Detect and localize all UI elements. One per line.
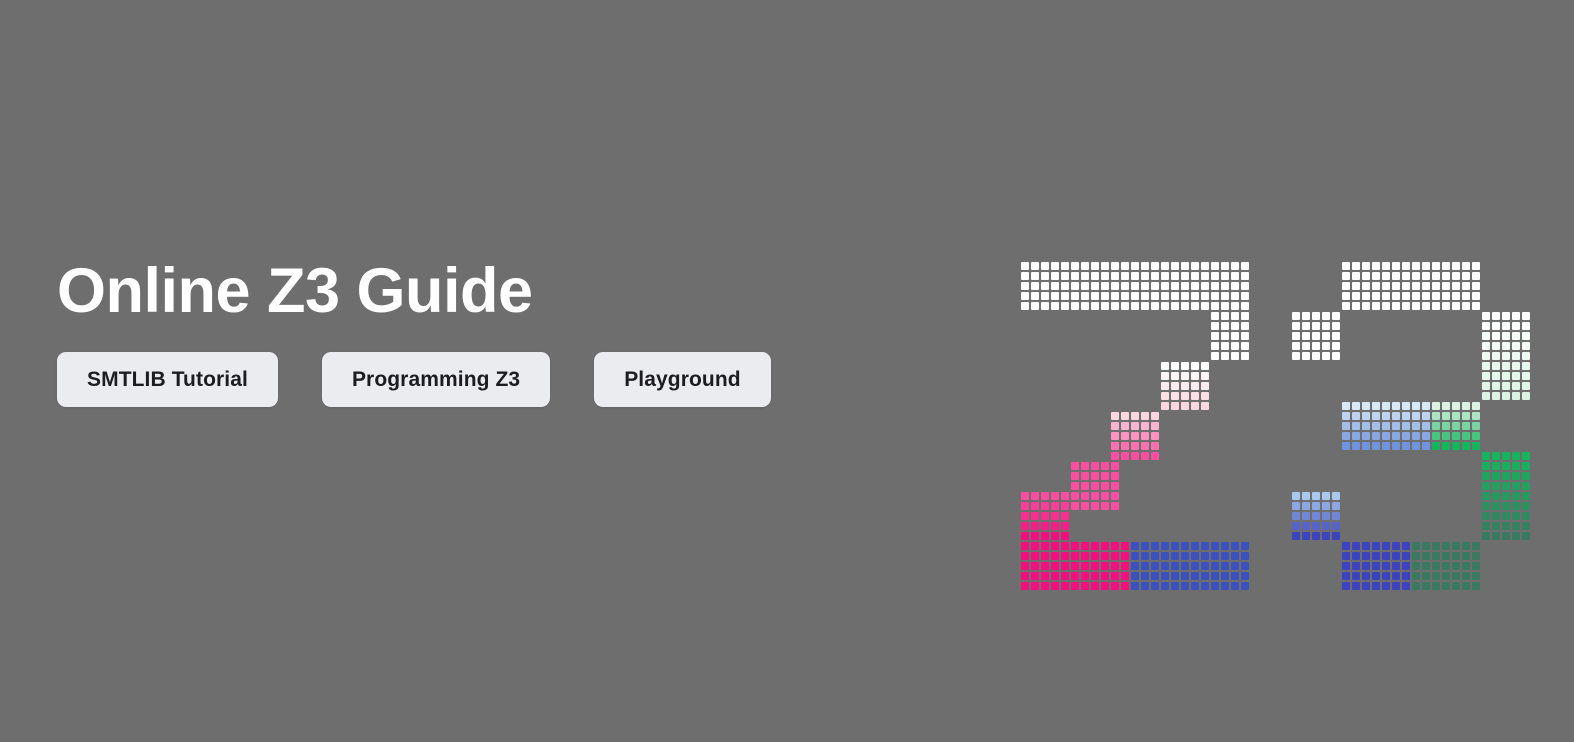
logo-pixel — [1101, 542, 1109, 550]
logo-pixel — [1362, 282, 1370, 290]
logo-pixel — [1231, 552, 1239, 560]
logo-pixel — [1121, 582, 1129, 590]
seven-top-bar — [1021, 262, 1251, 312]
logo-pixel — [1412, 412, 1420, 420]
logo-pixel — [1372, 292, 1380, 300]
logo-pixel — [1502, 372, 1510, 380]
logo-pixel — [1131, 292, 1139, 300]
logo-pixel — [1071, 572, 1079, 580]
logo-pixel — [1502, 502, 1510, 510]
logo-pixel — [1422, 582, 1430, 590]
logo-pixel — [1462, 572, 1470, 580]
logo-pixel — [1322, 532, 1330, 540]
logo-pixel — [1031, 292, 1039, 300]
logo-pixel — [1472, 542, 1480, 550]
logo-pixel — [1211, 282, 1219, 290]
logo-pixel — [1492, 392, 1500, 400]
logo-pixel — [1211, 572, 1219, 580]
logo-pixel — [1382, 582, 1390, 590]
logo-pixel — [1292, 342, 1300, 350]
logo-pixel — [1292, 352, 1300, 360]
logo-pixel — [1452, 402, 1460, 410]
logo-pixel — [1181, 382, 1189, 390]
logo-pixel — [1231, 312, 1239, 320]
logo-pixel — [1111, 542, 1119, 550]
logo-pixel — [1432, 422, 1440, 430]
logo-pixel — [1522, 362, 1530, 370]
logo-pixel — [1522, 372, 1530, 380]
logo-pixel — [1041, 492, 1049, 500]
logo-pixel — [1302, 492, 1310, 500]
logo-pixel — [1362, 552, 1370, 560]
logo-pixel — [1422, 262, 1430, 270]
logo-pixel — [1141, 282, 1149, 290]
logo-pixel — [1221, 552, 1229, 560]
logo-pixel — [1111, 482, 1119, 490]
logo-pixel — [1181, 262, 1189, 270]
logo-pixel — [1362, 272, 1370, 280]
logo-pixel — [1452, 412, 1460, 420]
logo-pixel — [1472, 582, 1480, 590]
logo-pixel — [1472, 302, 1480, 310]
logo-pixel — [1472, 572, 1480, 580]
logo-pixel — [1131, 442, 1139, 450]
logo-pixel — [1502, 532, 1510, 540]
logo-pixel — [1191, 292, 1199, 300]
logo-pixel — [1402, 432, 1410, 440]
logo-pixel — [1472, 552, 1480, 560]
hero-text-column: Online Z3 Guide SMTLIB Tutorial Programm… — [57, 258, 957, 407]
logo-pixel — [1051, 262, 1059, 270]
logo-pixel — [1101, 552, 1109, 560]
logo-pixel — [1091, 472, 1099, 480]
logo-pixel — [1061, 572, 1069, 580]
logo-pixel — [1392, 552, 1400, 560]
logo-pixel — [1402, 292, 1410, 300]
logo-pixel — [1071, 472, 1079, 480]
logo-pixel — [1302, 312, 1310, 320]
logo-pixel — [1101, 292, 1109, 300]
logo-pixel — [1221, 582, 1229, 590]
logo-pixel — [1191, 572, 1199, 580]
logo-pixel — [1302, 322, 1310, 330]
logo-pixel — [1081, 582, 1089, 590]
logo-pixel — [1201, 542, 1209, 550]
logo-pixel — [1141, 562, 1149, 570]
logo-pixel — [1512, 522, 1520, 530]
logo-pixel — [1462, 582, 1470, 590]
logo-pixel — [1241, 542, 1249, 550]
logo-pixel — [1502, 312, 1510, 320]
logo-pixel — [1151, 572, 1159, 580]
logo-pixel — [1061, 272, 1069, 280]
logo-pixel — [1372, 272, 1380, 280]
logo-pixel — [1041, 512, 1049, 520]
logo-pixel — [1362, 422, 1370, 430]
logo-pixel — [1061, 532, 1069, 540]
logo-pixel — [1091, 492, 1099, 500]
logo-pixel — [1472, 442, 1480, 450]
logo-pixel — [1211, 312, 1219, 320]
logo-pixel — [1392, 572, 1400, 580]
seven-base-blue — [1131, 542, 1251, 592]
logo-pixel — [1482, 372, 1490, 380]
logo-pixel — [1382, 272, 1390, 280]
playground-button[interactable]: Playground — [594, 352, 771, 407]
logo-pixel — [1492, 382, 1500, 390]
z3-pixel-logo — [1021, 262, 1521, 587]
logo-pixel — [1422, 422, 1430, 430]
logo-pixel — [1492, 482, 1500, 490]
logo-pixel — [1442, 562, 1450, 570]
logo-pixel — [1332, 502, 1340, 510]
logo-pixel — [1352, 412, 1360, 420]
logo-pixel — [1352, 562, 1360, 570]
logo-pixel — [1141, 272, 1149, 280]
logo-pixel — [1392, 582, 1400, 590]
logo-pixel — [1111, 472, 1119, 480]
logo-pixel — [1462, 432, 1470, 440]
logo-pixel — [1442, 262, 1450, 270]
logo-pixel — [1211, 582, 1219, 590]
logo-pixel — [1081, 492, 1089, 500]
logo-pixel — [1362, 562, 1370, 570]
logo-pixel — [1392, 292, 1400, 300]
logo-pixel — [1452, 562, 1460, 570]
logo-pixel — [1502, 342, 1510, 350]
logo-pixel — [1111, 282, 1119, 290]
logo-pixel — [1312, 342, 1320, 350]
logo-pixel — [1071, 282, 1079, 290]
logo-pixel — [1171, 552, 1179, 560]
logo-pixel — [1201, 572, 1209, 580]
logo-pixel — [1241, 552, 1249, 560]
logo-pixel — [1342, 282, 1350, 290]
logo-pixel — [1041, 522, 1049, 530]
logo-pixel — [1151, 452, 1159, 460]
logo-pixel — [1382, 562, 1390, 570]
logo-pixel — [1442, 572, 1450, 580]
logo-pixel — [1181, 572, 1189, 580]
hero-button-row: SMTLIB Tutorial Programming Z3 Playgroun… — [57, 352, 957, 407]
logo-pixel — [1121, 262, 1129, 270]
logo-pixel — [1382, 542, 1390, 550]
logo-pixel — [1312, 502, 1320, 510]
logo-pixel — [1161, 292, 1169, 300]
logo-pixel — [1101, 462, 1109, 470]
logo-pixel — [1141, 572, 1149, 580]
logo-pixel — [1241, 342, 1249, 350]
logo-pixel — [1141, 292, 1149, 300]
logo-pixel — [1402, 422, 1410, 430]
logo-pixel — [1201, 302, 1209, 310]
logo-pixel — [1171, 372, 1179, 380]
logo-pixel — [1442, 272, 1450, 280]
three-mid-blue — [1342, 402, 1432, 452]
logo-pixel — [1031, 282, 1039, 290]
logo-pixel — [1502, 332, 1510, 340]
logo-pixel — [1021, 502, 1029, 510]
logo-pixel — [1211, 262, 1219, 270]
logo-pixel — [1292, 532, 1300, 540]
logo-pixel — [1191, 282, 1199, 290]
logo-pixel — [1201, 362, 1209, 370]
logo-pixel — [1231, 322, 1239, 330]
logo-pixel — [1472, 562, 1480, 570]
logo-pixel — [1392, 432, 1400, 440]
logo-pixel — [1372, 582, 1380, 590]
logo-pixel — [1031, 512, 1039, 520]
logo-pixel — [1382, 572, 1390, 580]
logo-pixel — [1151, 262, 1159, 270]
logo-pixel — [1442, 442, 1450, 450]
logo-pixel — [1091, 582, 1099, 590]
logo-pixel — [1522, 322, 1530, 330]
logo-pixel — [1482, 512, 1490, 520]
logo-pixel — [1452, 262, 1460, 270]
logo-pixel — [1141, 442, 1149, 450]
logo-pixel — [1482, 392, 1490, 400]
logo-pixel — [1061, 562, 1069, 570]
logo-pixel — [1402, 542, 1410, 550]
logo-pixel — [1482, 312, 1490, 320]
logo-pixel — [1101, 472, 1109, 480]
logo-pixel — [1392, 562, 1400, 570]
logo-pixel — [1402, 562, 1410, 570]
logo-pixel — [1041, 572, 1049, 580]
logo-pixel — [1492, 532, 1500, 540]
logo-pixel — [1231, 292, 1239, 300]
logo-pixel — [1392, 542, 1400, 550]
logo-pixel — [1332, 492, 1340, 500]
logo-pixel — [1432, 402, 1440, 410]
logo-pixel — [1051, 302, 1059, 310]
logo-pixel — [1161, 372, 1169, 380]
logo-pixel — [1221, 572, 1229, 580]
logo-pixel — [1462, 302, 1470, 310]
logo-pixel — [1372, 572, 1380, 580]
logo-pixel — [1081, 472, 1089, 480]
logo-pixel — [1041, 272, 1049, 280]
logo-pixel — [1432, 562, 1440, 570]
logo-pixel — [1231, 542, 1239, 550]
logo-pixel — [1482, 522, 1490, 530]
logo-pixel — [1091, 272, 1099, 280]
logo-pixel — [1091, 282, 1099, 290]
logo-pixel — [1161, 382, 1169, 390]
logo-pixel — [1412, 262, 1420, 270]
logo-pixel — [1141, 302, 1149, 310]
logo-pixel — [1231, 582, 1239, 590]
logo-pixel — [1101, 272, 1109, 280]
logo-pixel — [1492, 462, 1500, 470]
logo-pixel — [1512, 342, 1520, 350]
logo-pixel — [1021, 572, 1029, 580]
logo-pixel — [1051, 272, 1059, 280]
logo-pixel — [1181, 542, 1189, 550]
logo-pixel — [1442, 552, 1450, 560]
logo-pixel — [1392, 422, 1400, 430]
logo-pixel — [1241, 312, 1249, 320]
logo-pixel — [1021, 532, 1029, 540]
logo-pixel — [1432, 442, 1440, 450]
logo-pixel — [1081, 572, 1089, 580]
logo-pixel — [1382, 282, 1390, 290]
logo-pixel — [1332, 352, 1340, 360]
three-bot-green — [1412, 542, 1482, 592]
logo-pixel — [1372, 422, 1380, 430]
logo-pixel — [1512, 512, 1520, 520]
logo-pixel — [1362, 432, 1370, 440]
logo-pixel — [1201, 392, 1209, 400]
logo-pixel — [1211, 292, 1219, 300]
logo-pixel — [1021, 512, 1029, 520]
logo-pixel — [1151, 542, 1159, 550]
logo-pixel — [1342, 422, 1350, 430]
logo-pixel — [1201, 582, 1209, 590]
logo-pixel — [1101, 482, 1109, 490]
logo-pixel — [1512, 472, 1520, 480]
logo-pixel — [1021, 292, 1029, 300]
logo-pixel — [1081, 482, 1089, 490]
logo-pixel — [1402, 282, 1410, 290]
logo-pixel — [1091, 562, 1099, 570]
logo-pixel — [1402, 272, 1410, 280]
logo-pixel — [1191, 302, 1199, 310]
logo-pixel — [1382, 412, 1390, 420]
logo-pixel — [1201, 292, 1209, 300]
logo-pixel — [1342, 412, 1350, 420]
logo-pixel — [1121, 422, 1129, 430]
seven-step-5 — [1021, 492, 1071, 542]
logo-pixel — [1091, 572, 1099, 580]
logo-pixel — [1221, 312, 1229, 320]
logo-pixel — [1131, 282, 1139, 290]
logo-pixel — [1171, 272, 1179, 280]
logo-pixel — [1131, 542, 1139, 550]
logo-pixel — [1121, 412, 1129, 420]
logo-pixel — [1161, 392, 1169, 400]
smtlib-tutorial-button[interactable]: SMTLIB Tutorial — [57, 352, 278, 407]
logo-pixel — [1472, 262, 1480, 270]
logo-pixel — [1141, 262, 1149, 270]
logo-pixel — [1512, 532, 1520, 540]
logo-pixel — [1241, 352, 1249, 360]
logo-pixel — [1191, 562, 1199, 570]
logo-pixel — [1362, 302, 1370, 310]
logo-pixel — [1131, 572, 1139, 580]
logo-pixel — [1452, 552, 1460, 560]
logo-pixel — [1191, 382, 1199, 390]
logo-pixel — [1342, 402, 1350, 410]
logo-pixel — [1412, 442, 1420, 450]
logo-pixel — [1031, 542, 1039, 550]
logo-pixel — [1211, 272, 1219, 280]
logo-pixel — [1382, 262, 1390, 270]
logo-pixel — [1472, 292, 1480, 300]
logo-pixel — [1392, 282, 1400, 290]
logo-pixel — [1101, 262, 1109, 270]
logo-pixel — [1151, 432, 1159, 440]
seven-base-pink — [1021, 542, 1131, 592]
logo-pixel — [1392, 402, 1400, 410]
logo-pixel — [1121, 292, 1129, 300]
logo-pixel — [1221, 302, 1229, 310]
logo-pixel — [1091, 482, 1099, 490]
logo-pixel — [1241, 572, 1249, 580]
logo-pixel — [1171, 262, 1179, 270]
logo-pixel — [1091, 542, 1099, 550]
logo-pixel — [1442, 422, 1450, 430]
logo-pixel — [1432, 302, 1440, 310]
logo-pixel — [1191, 372, 1199, 380]
logo-pixel — [1021, 302, 1029, 310]
logo-pixel — [1221, 352, 1229, 360]
logo-pixel — [1352, 582, 1360, 590]
logo-pixel — [1482, 462, 1490, 470]
logo-pixel — [1462, 412, 1470, 420]
logo-pixel — [1412, 542, 1420, 550]
logo-pixel — [1322, 492, 1330, 500]
logo-pixel — [1041, 502, 1049, 510]
logo-pixel — [1492, 332, 1500, 340]
logo-pixel — [1442, 412, 1450, 420]
logo-pixel — [1342, 552, 1350, 560]
logo-pixel — [1362, 402, 1370, 410]
logo-pixel — [1161, 582, 1169, 590]
logo-pixel — [1101, 572, 1109, 580]
three-bot-blue — [1342, 542, 1412, 592]
logo-pixel — [1292, 492, 1300, 500]
three-top-bar — [1342, 262, 1482, 312]
logo-pixel — [1171, 362, 1179, 370]
logo-pixel — [1422, 542, 1430, 550]
logo-pixel — [1372, 402, 1380, 410]
logo-pixel — [1061, 492, 1069, 500]
logo-pixel — [1292, 332, 1300, 340]
seven-stem-1 — [1211, 312, 1251, 362]
logo-pixel — [1121, 442, 1129, 450]
logo-pixel — [1231, 262, 1239, 270]
logo-pixel — [1031, 492, 1039, 500]
logo-pixel — [1111, 452, 1119, 460]
logo-pixel — [1111, 412, 1119, 420]
logo-pixel — [1452, 542, 1460, 550]
logo-pixel — [1412, 582, 1420, 590]
logo-pixel — [1231, 282, 1239, 290]
logo-pixel — [1422, 302, 1430, 310]
programming-z3-button[interactable]: Programming Z3 — [322, 352, 550, 407]
logo-pixel — [1522, 532, 1530, 540]
logo-pixel — [1492, 502, 1500, 510]
logo-pixel — [1522, 332, 1530, 340]
logo-pixel — [1231, 332, 1239, 340]
logo-pixel — [1512, 382, 1520, 390]
logo-pixel — [1131, 552, 1139, 560]
logo-pixel — [1081, 272, 1089, 280]
seven-step-4 — [1071, 462, 1121, 512]
logo-pixel — [1342, 572, 1350, 580]
logo-pixel — [1241, 302, 1249, 310]
logo-pixel — [1111, 572, 1119, 580]
logo-pixel — [1522, 382, 1530, 390]
logo-pixel — [1362, 292, 1370, 300]
logo-pixel — [1051, 582, 1059, 590]
logo-pixel — [1362, 262, 1370, 270]
logo-pixel — [1302, 332, 1310, 340]
logo-pixel — [1101, 492, 1109, 500]
logo-pixel — [1241, 272, 1249, 280]
